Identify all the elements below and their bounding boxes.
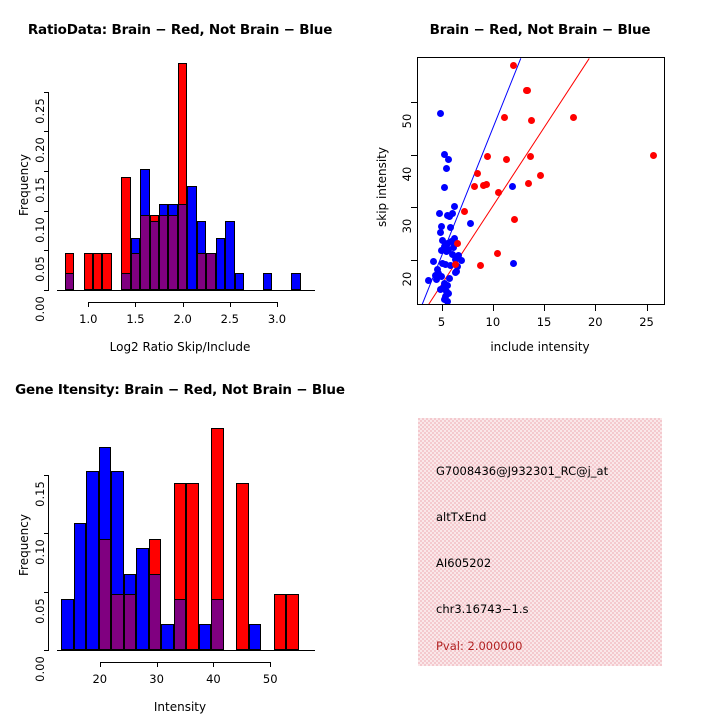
scatter-point	[439, 237, 446, 244]
x-tick-label: 50	[250, 672, 290, 686]
intensity-scatter-panel: Brain − Red, Not Brain − Blue skip inten…	[360, 0, 720, 360]
scatter-point	[425, 277, 432, 284]
scatter-point	[437, 229, 444, 236]
histogram-bar	[186, 483, 199, 650]
y-tick-label: 0.00	[33, 650, 47, 688]
gene-histogram-xlabel: Intensity	[0, 700, 360, 714]
histogram-bar	[136, 548, 149, 650]
scatter-point	[447, 224, 454, 231]
scatter-point	[437, 110, 444, 117]
gene-histogram-plot-region	[60, 422, 310, 650]
x-tick	[183, 302, 184, 307]
x-tick-label: 30	[137, 672, 177, 686]
histogram-bar	[93, 253, 102, 290]
histogram-bar-overlap	[131, 253, 140, 290]
histogram-bar-overlap	[111, 594, 124, 650]
scatter-point	[436, 210, 443, 217]
x-tick-label: 40	[193, 672, 233, 686]
scatter-point	[446, 213, 453, 220]
x-tick-label: 2.5	[210, 312, 250, 326]
y-tick-label: 0.15	[33, 475, 47, 513]
histogram-bar	[291, 273, 300, 290]
gene-histogram-panel: Gene Itensity: Brain − Red, Not Brain − …	[0, 360, 360, 720]
histogram-bar	[235, 273, 244, 290]
annotation-panel: G7008436@J932301_RC@j_at altTxEnd AI6052…	[360, 360, 720, 720]
scatter-point	[467, 220, 474, 227]
gene-histogram-title: Gene Itensity: Brain − Red, Not Brain − …	[0, 382, 360, 398]
scatter-point	[461, 208, 468, 215]
scatter-point	[511, 216, 518, 223]
x-tick-label: 20	[80, 672, 120, 686]
y-tick-label: 30	[400, 207, 414, 245]
x-tick	[544, 305, 545, 311]
histogram-bar-overlap	[65, 273, 74, 290]
x-tick	[213, 662, 214, 667]
x-tick	[270, 662, 271, 667]
scatter-point	[441, 184, 448, 191]
histogram-bar-overlap	[99, 539, 112, 650]
y-tick-label: 50	[400, 102, 414, 140]
histogram-bar-overlap	[140, 215, 149, 290]
histogram-bar-overlap	[174, 599, 187, 650]
histogram-bar	[102, 253, 111, 290]
x-tick-label: 15	[524, 315, 564, 329]
annotation-box: G7008436@J932301_RC@j_at altTxEnd AI6052…	[418, 418, 662, 666]
scatter-point	[503, 156, 510, 163]
x-tick-label: 3.0	[257, 312, 297, 326]
scatter-point	[471, 183, 478, 190]
histogram-bar	[61, 599, 74, 650]
x-tick	[277, 302, 278, 307]
x-tick	[647, 305, 648, 311]
y-axis-line	[48, 475, 49, 650]
histogram-bar-overlap	[168, 215, 177, 290]
histogram-bar	[249, 624, 262, 650]
x-tick-label: 5	[422, 315, 462, 329]
y-tick-label: 0.10	[33, 211, 47, 249]
histogram-bar-overlap	[149, 574, 162, 650]
histogram-bar	[216, 238, 225, 290]
scatter-point	[434, 266, 441, 273]
scatter-point	[452, 269, 459, 276]
histogram-bar	[74, 523, 87, 650]
x-axis-baseline	[57, 290, 315, 291]
x-axis-tick-line	[100, 662, 270, 663]
scatter-point	[483, 181, 490, 188]
intensity-scatter-title: Brain − Red, Not Brain − Blue	[360, 22, 720, 38]
y-tick-label: 40	[400, 155, 414, 193]
histogram-bar-overlap	[206, 253, 215, 290]
scatter-point	[509, 183, 516, 190]
pval-text: Pval: 2.000000	[436, 639, 522, 653]
ratio-histogram-panel: RatioData: Brain − Red, Not Brain − Blue…	[0, 0, 360, 360]
scatter-point	[454, 240, 461, 247]
y-tick-label: 0.05	[33, 592, 47, 630]
x-tick	[230, 302, 231, 307]
scatter-point	[443, 165, 450, 172]
scatter-point	[501, 114, 508, 121]
y-tick-label: 0.25	[33, 92, 47, 130]
scatter-point	[430, 258, 437, 265]
y-tick-label: 0.15	[33, 171, 47, 209]
x-tick	[100, 662, 101, 667]
scatter-point	[528, 117, 535, 124]
x-tick	[88, 302, 89, 307]
histogram-bar	[86, 471, 99, 650]
y-tick-label: 0.05	[33, 250, 47, 288]
scatter-point	[495, 189, 502, 196]
scatter-point	[484, 153, 491, 160]
histogram-bar-overlap	[124, 594, 137, 650]
x-tick	[493, 305, 494, 311]
histogram-bar	[84, 253, 93, 290]
x-tick-label: 1.5	[115, 312, 155, 326]
histogram-bar-overlap	[121, 273, 130, 290]
x-tick-label: 25	[627, 315, 667, 329]
intensity-scatter-plot-region	[417, 57, 665, 305]
ratio-histogram-xlabel: Log2 Ratio Skip/Include	[0, 340, 360, 354]
y-tick-label: 0.00	[33, 290, 47, 328]
scatter-point	[446, 275, 453, 282]
x-tick-label: 2.0	[163, 312, 203, 326]
scatter-point	[650, 152, 657, 159]
scatter-point	[525, 180, 532, 187]
probe-id-text: G7008436@J932301_RC@j_at	[436, 464, 608, 478]
intensity-scatter-ylabel: skip intensity	[375, 127, 389, 247]
histogram-bar-overlap	[178, 204, 187, 290]
x-tick	[442, 305, 443, 311]
scatter-point	[570, 114, 577, 121]
histogram-bar-overlap	[211, 599, 224, 650]
scatter-point	[527, 153, 534, 160]
histogram-bar	[236, 483, 249, 650]
scatter-point	[474, 170, 481, 177]
histogram-bar-overlap	[159, 215, 168, 290]
y-axis-line	[48, 92, 49, 290]
scatter-point	[433, 276, 440, 283]
locus-text: chr3.16743−1.s	[436, 602, 529, 616]
intensity-scatter-xlabel: include intensity	[360, 340, 720, 354]
histogram-bar	[225, 221, 234, 290]
ratio-histogram-ylabel: Frequency	[17, 125, 31, 245]
x-axis-baseline	[57, 650, 315, 651]
scatter-point	[445, 156, 452, 163]
histogram-bar	[187, 186, 196, 290]
accession-text: AI605202	[436, 556, 491, 570]
y-tick-label: 0.20	[33, 131, 47, 169]
scatter-point	[444, 298, 451, 305]
event-type-text: altTxEnd	[436, 510, 486, 524]
histogram-bar	[161, 624, 174, 650]
x-tick	[595, 305, 596, 311]
gene-histogram-ylabel: Frequency	[17, 485, 31, 605]
x-tick-label: 10	[473, 315, 513, 329]
histogram-bar	[286, 594, 299, 650]
histogram-bar-overlap	[150, 221, 159, 290]
scatter-point	[510, 260, 517, 267]
ratio-histogram-title: RatioData: Brain − Red, Not Brain − Blue	[0, 22, 360, 38]
scatter-point	[537, 172, 544, 179]
y-tick-label: 20	[400, 260, 414, 298]
x-tick	[157, 662, 158, 667]
scatter-point	[524, 87, 531, 94]
scatter-point	[477, 262, 484, 269]
x-tick-label: 1.0	[68, 312, 108, 326]
histogram-bar	[274, 594, 287, 650]
x-tick-label: 20	[575, 315, 615, 329]
x-tick	[135, 302, 136, 307]
scatter-point	[494, 250, 501, 257]
y-tick-label: 0.10	[33, 533, 47, 571]
ratio-histogram-plot-region	[60, 60, 310, 290]
histogram-bar	[263, 273, 272, 290]
histogram-bar-overlap	[197, 253, 206, 290]
histogram-bar	[199, 624, 212, 650]
